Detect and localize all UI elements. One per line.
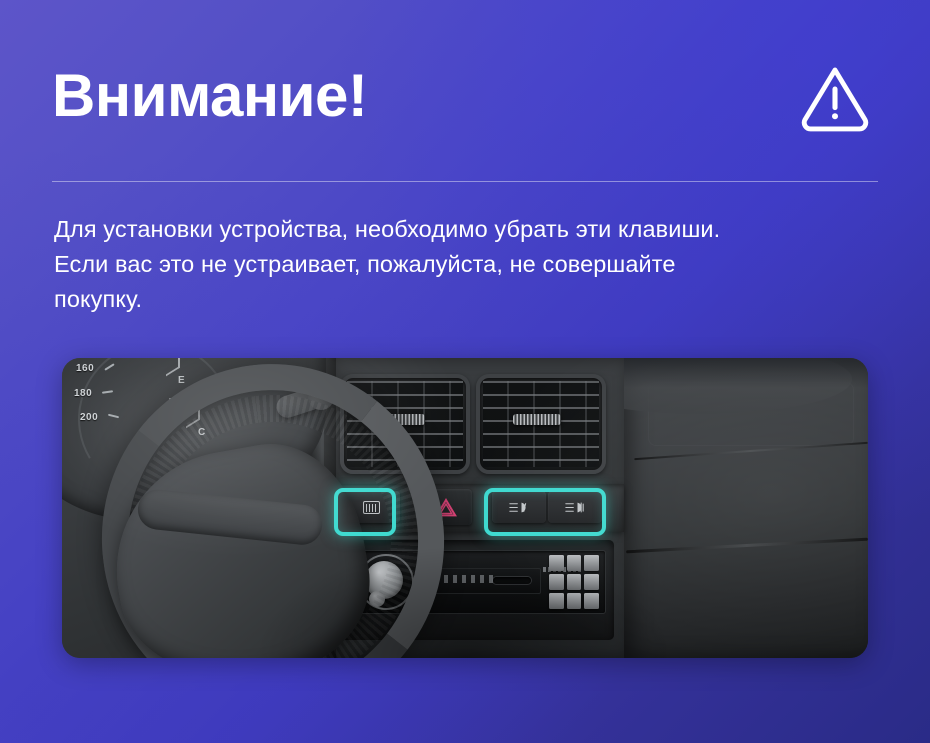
body-line-2: Если вас это не устраивает, пожалуйста, …: [54, 247, 864, 282]
preset-button[interactable]: [549, 593, 564, 609]
speed-mark-200: 200: [80, 412, 98, 423]
vent-adjust-wheel[interactable]: [513, 414, 561, 425]
steering-wheel-spoke: [136, 488, 324, 547]
preset-button[interactable]: [549, 555, 564, 571]
fuel-gauge-letter: E: [178, 375, 185, 386]
cd-slot[interactable]: [493, 577, 531, 584]
banner-header: Внимание!: [52, 48, 878, 144]
highlight-fog-lights: [484, 488, 606, 536]
preset-button[interactable]: [567, 574, 582, 590]
dashboard-scene: km/h 140 160 180 200 E C: [62, 358, 868, 658]
dash-seam-lower: [626, 538, 868, 554]
speed-mark-160: 160: [76, 363, 94, 374]
speed-mark-180: 180: [74, 388, 92, 399]
preset-button[interactable]: [567, 593, 582, 609]
banner-body-text: Для установки устройства, необходимо убр…: [54, 212, 864, 317]
preset-button[interactable]: [584, 555, 599, 571]
preset-button[interactable]: [584, 574, 599, 590]
header-divider: [52, 181, 878, 182]
body-line-1: Для установки устройства, необходимо убр…: [54, 212, 864, 247]
preset-button[interactable]: [567, 555, 582, 571]
preset-button-grid[interactable]: [549, 555, 599, 609]
body-line-3: покупку.: [54, 282, 864, 317]
highlight-rear-defog: [334, 488, 396, 536]
warning-triangle-icon: [798, 59, 872, 133]
page-title: Внимание!: [52, 66, 367, 126]
preset-button[interactable]: [549, 574, 564, 590]
preset-button[interactable]: [584, 593, 599, 609]
car-dashboard-photo: km/h 140 160 180 200 E C: [62, 358, 868, 658]
ac-vent-right: [476, 374, 606, 474]
warning-banner: Внимание! Для установки устройства, необ…: [0, 0, 930, 743]
